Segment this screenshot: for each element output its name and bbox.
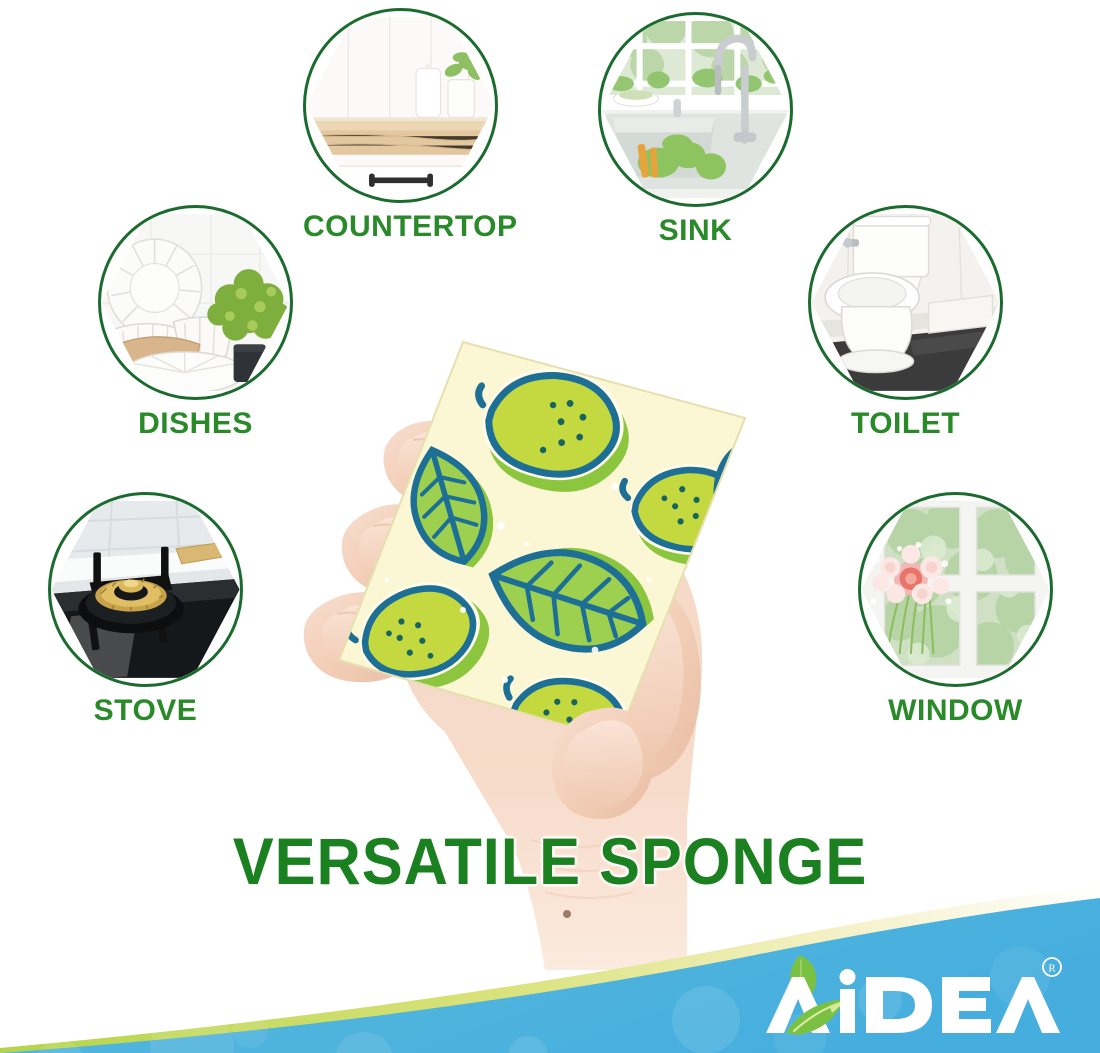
brand-logo: R	[764, 953, 1064, 1039]
sink-photo	[602, 16, 790, 204]
dishes-photo	[102, 209, 290, 397]
feature-label: STOVE	[48, 696, 243, 726]
feature-circle	[598, 12, 793, 207]
feature-label: TOILET	[808, 409, 1003, 439]
registered-trademark-icon: R	[1043, 958, 1061, 976]
feature-label: DISHES	[98, 409, 293, 439]
feature-toilet: TOILET	[808, 205, 1003, 439]
feature-label: COUNTERTOP	[303, 212, 498, 242]
feature-label: WINDOW	[858, 696, 1053, 726]
feature-circle	[808, 205, 1003, 400]
feature-window: WINDOW	[858, 492, 1053, 726]
feature-sink: SINK	[598, 12, 793, 246]
stove-photo	[52, 496, 240, 684]
feature-circle	[48, 492, 243, 687]
countertop-photo	[307, 12, 495, 200]
window-photo	[862, 496, 1050, 684]
marketing-image: COUNTERTOP	[0, 0, 1100, 1053]
feature-circle	[303, 8, 498, 203]
feature-countertop: COUNTERTOP	[303, 8, 498, 242]
feature-dishes: DISHES	[98, 205, 293, 439]
feature-label: SINK	[598, 216, 793, 246]
feature-circle	[98, 205, 293, 400]
toilet-photo	[812, 209, 1000, 397]
feature-stove: STOVE	[48, 492, 243, 726]
svg-text:R: R	[1048, 963, 1056, 975]
feature-circle	[858, 492, 1053, 687]
